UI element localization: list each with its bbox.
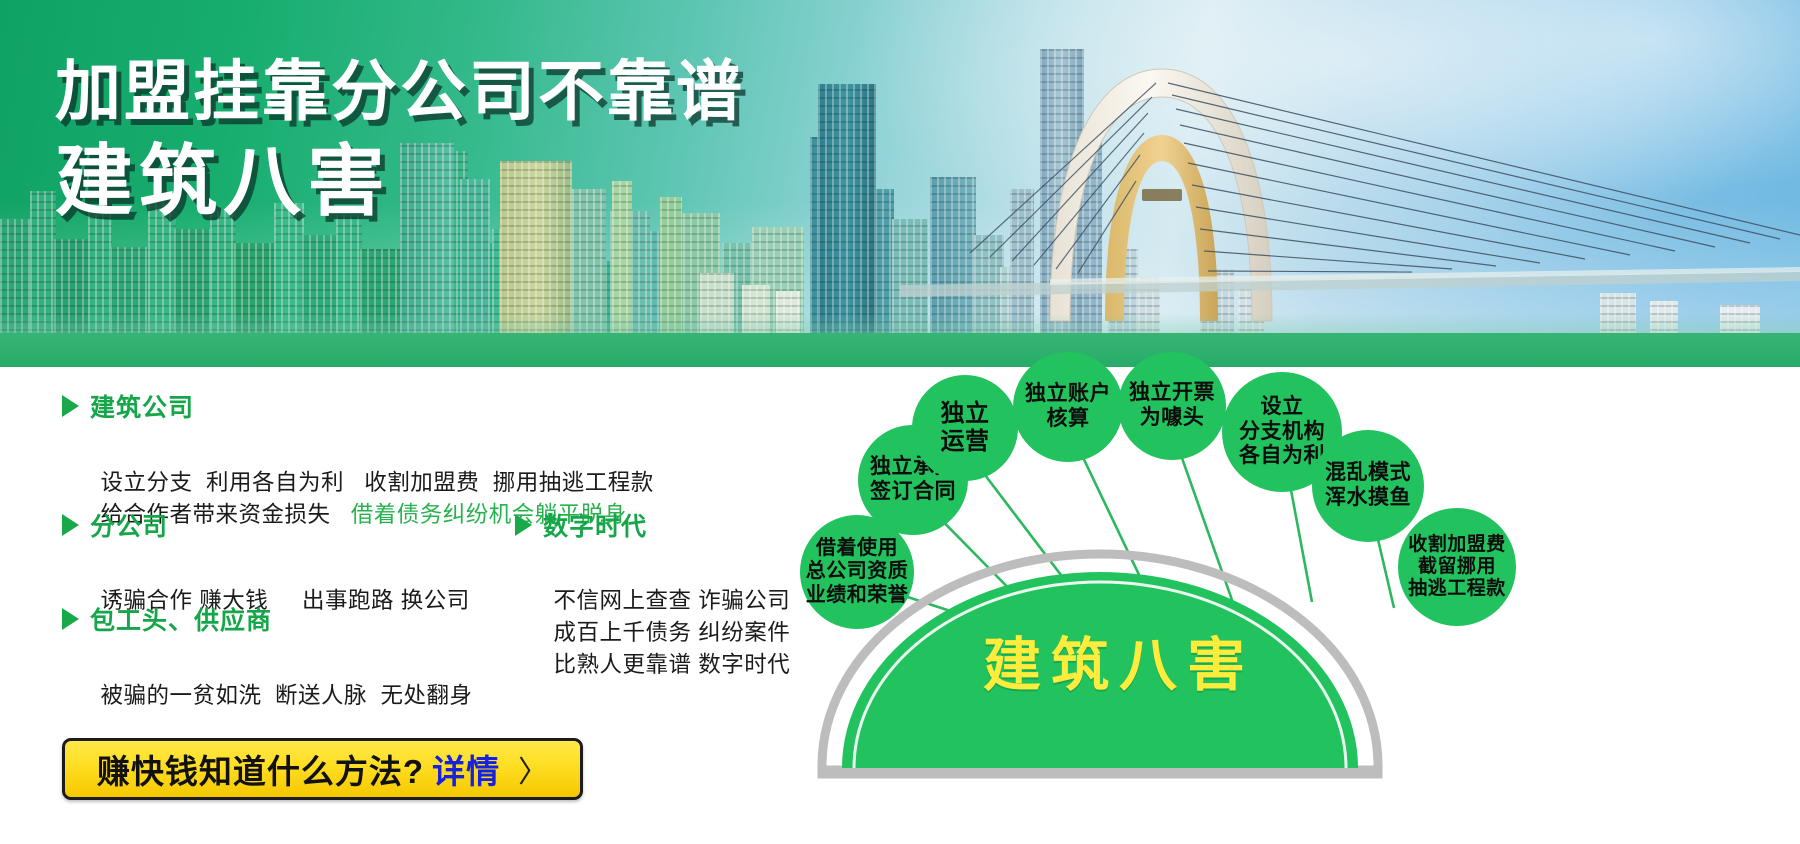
bubble-line: 分支机构 [1239, 420, 1325, 445]
section-title: 数字时代 [543, 507, 647, 543]
bubble-line: 截留挪用 [1418, 556, 1496, 578]
cta-details-button[interactable]: 赚快钱知道什么方法? 详情 〉 [62, 738, 583, 800]
line-text: 被骗的一贫如洗 断送人脉 无处翻身 [101, 683, 473, 708]
page-title: 加盟挂靠分公司不靠谱 建筑八害 [55, 56, 745, 224]
bubble-line: 独立开票 [1129, 381, 1215, 406]
hero-title-line1: 加盟挂靠分公司不靠谱 [55, 56, 745, 127]
section-heading-branch-company: 分公司 [62, 507, 168, 543]
section-title: 分公司 [90, 507, 168, 543]
bubble-line: 浑水摸鱼 [1325, 486, 1411, 511]
triangle-bullet-icon [62, 514, 79, 536]
bubble-independent-operation[interactable]: 独立 运营 [912, 375, 1018, 481]
bubble-chaotic-mode[interactable]: 混乱模式 浑水摸鱼 [1312, 430, 1424, 542]
bubble-line: 设立 [1261, 395, 1304, 420]
chevron-right-icon: 〉 [518, 747, 548, 791]
section-line: 比熟人更靠谱 数字时代 [513, 617, 790, 713]
triangle-bullet-icon [62, 395, 79, 417]
liede-bridge-illustration [900, 39, 1800, 339]
bubble-line: 借着使用 [816, 537, 898, 560]
bubble-line: 业绩和荣誉 [806, 584, 909, 607]
section-heading-digital-era: 数字时代 [515, 507, 647, 543]
line-text: 比熟人更靠谱 数字时代 [554, 652, 791, 677]
poster-root: 加盟挂靠分公司不靠谱 建筑八害 建筑公司 设立分支 利用各自为利 收割加盟费 挪… [0, 0, 1800, 844]
triangle-bullet-icon [515, 514, 532, 536]
bubble-harvest-franchise-fee[interactable]: 收割加盟费 截留挪用 抽逃工程款 [1398, 508, 1516, 626]
triangle-bullet-icon [62, 608, 79, 630]
bubble-line: 混乱模式 [1325, 461, 1411, 486]
bubble-line: 收割加盟费 [1408, 534, 1506, 556]
cta-link-label[interactable]: 详情 [432, 745, 500, 793]
bubble-line: 为噱头 [1140, 406, 1205, 431]
cta-label: 赚快钱知道什么方法? [97, 745, 424, 793]
section-heading-contractor-supplier: 包工头、供应商 [62, 601, 272, 637]
bubble-line: 独立 [941, 400, 990, 428]
bubble-line: 核算 [1047, 407, 1090, 432]
section-heading-construction-company: 建筑公司 [62, 388, 194, 424]
hero-title-line2: 建筑八害 [55, 139, 745, 223]
bubble-line: 抽逃工程款 [1408, 578, 1506, 600]
bubble-line: 独立账户 [1025, 382, 1111, 407]
dome-center-label: 建筑八害 [983, 618, 1255, 702]
hero-banner: 加盟挂靠分公司不靠谱 建筑八害 [0, 0, 1800, 367]
bubble-line: 签订合同 [870, 480, 956, 505]
section-line: 被骗的一贫如洗 断送人脉 无处翻身 [60, 648, 473, 744]
bubble-independent-invoicing[interactable]: 独立开票 为噱头 [1118, 352, 1226, 460]
bahai-dome-diagram: 建筑八害 借着使用 总公司资质 业绩和荣誉 独立承揽 签订合同 独立 运营 独立… [800, 330, 1800, 844]
bubble-line: 运营 [941, 428, 990, 456]
section-title: 包工头、供应商 [90, 601, 272, 637]
section-title: 建筑公司 [90, 388, 194, 424]
bubble-independent-accounting[interactable]: 独立账户 核算 [1013, 352, 1123, 462]
bubble-line: 总公司资质 [806, 560, 909, 583]
bubble-line: 各自为利 [1239, 444, 1325, 469]
